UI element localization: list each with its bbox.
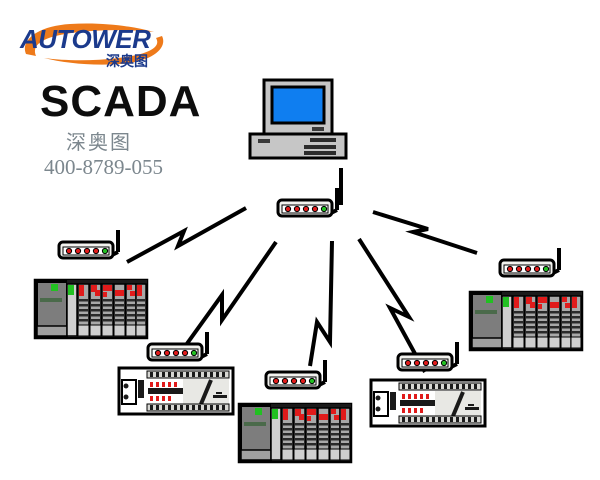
monitor-screen [272,87,324,123]
node-plc-bottom-center[interactable] [237,396,353,466]
radio-led-3 [303,206,308,211]
plc-io-modules [282,408,350,460]
radio-led-4 [300,378,305,383]
plc-cpu-footer [241,450,271,460]
node-master-radio[interactable] [275,186,353,222]
radio-led-3 [525,266,530,271]
radio-led-2 [516,266,521,271]
plc-compact-switch [390,392,396,410]
plc-compact-nameplate [213,395,227,398]
radio-led-4 [93,248,98,253]
node-plc-left[interactable] [33,272,149,342]
plc-compact-panel-upper [400,400,436,406]
plc-compact-nameplate-2 [216,392,222,394]
radio-led-1 [273,378,278,383]
node-plc-bottom-right[interactable] [369,378,487,428]
plc-compact-port-upper [376,396,381,401]
radio-led-4 [534,266,539,271]
plc-compact-nameplate [465,407,479,410]
node-radio-bottom-right[interactable] [395,340,473,376]
plc-blank-slot-led [272,409,278,419]
plc-compact-connector [374,392,388,416]
node-radio-bottom-center[interactable] [263,358,341,394]
radio-led-3 [291,378,296,383]
radio-led-3 [84,248,89,253]
radio-led-2 [294,206,299,211]
radio-led-5 [191,350,196,355]
node-radio-right[interactable] [497,246,575,282]
plc-compact-panel-upper [148,388,184,394]
plc-cpu-led [51,284,58,291]
radio-led-5 [309,378,314,383]
plc-compact-connector [122,380,136,404]
radio-led-1 [155,350,160,355]
base-unit-slot-b [304,145,336,149]
radio-led-5 [543,266,548,271]
node-radio-bottom-left[interactable] [145,330,223,366]
base-unit-slot-a [310,138,336,142]
radio-led-1 [66,248,71,253]
radio-led-4 [432,360,437,365]
plc-compact-port-lower [124,395,129,400]
radio-led-1 [507,266,512,271]
devices-layer [0,0,600,480]
base-unit-slot-left [258,139,270,143]
radio-led-2 [75,248,80,253]
plc-compact-port-lower [376,407,381,412]
plc-compact-port-upper [124,384,129,389]
radio-led-3 [423,360,428,365]
plc-cpu-label [40,298,62,302]
plc-cpu-label [244,422,266,426]
radio-led-5 [321,206,326,211]
plc-blank-slot-led [68,285,74,295]
plc-compact-switch [138,380,144,398]
radio-led-4 [312,206,317,211]
radio-led-1 [285,206,290,211]
plc-blank-slot-led [503,297,509,307]
node-radio-left[interactable] [56,228,134,264]
plc-io-modules [513,296,581,348]
monitor-indicator [312,127,324,131]
plc-io-modules [78,284,146,336]
radio-led-3 [173,350,178,355]
radio-led-5 [102,248,107,253]
node-plc-right[interactable] [468,284,584,354]
plc-cpu-led [255,408,262,415]
radio-led-2 [414,360,419,365]
plc-cpu-footer [472,338,502,348]
radio-led-5 [441,360,446,365]
radio-led-4 [182,350,187,355]
plc-cpu-label [475,310,497,314]
radio-led-2 [282,378,287,383]
radio-led-2 [164,350,169,355]
node-workstation[interactable] [248,78,352,162]
scada-diagram-canvas: AUTOWER 深奥图 SCADA 深奥图 400-8789-055 [0,0,600,480]
plc-cpu-led [486,296,493,303]
radio-led-1 [405,360,410,365]
base-unit-slot-c [304,151,336,155]
plc-compact-nameplate-2 [468,404,474,406]
node-plc-bottom-left[interactable] [117,366,235,416]
plc-cpu-footer [37,326,67,336]
